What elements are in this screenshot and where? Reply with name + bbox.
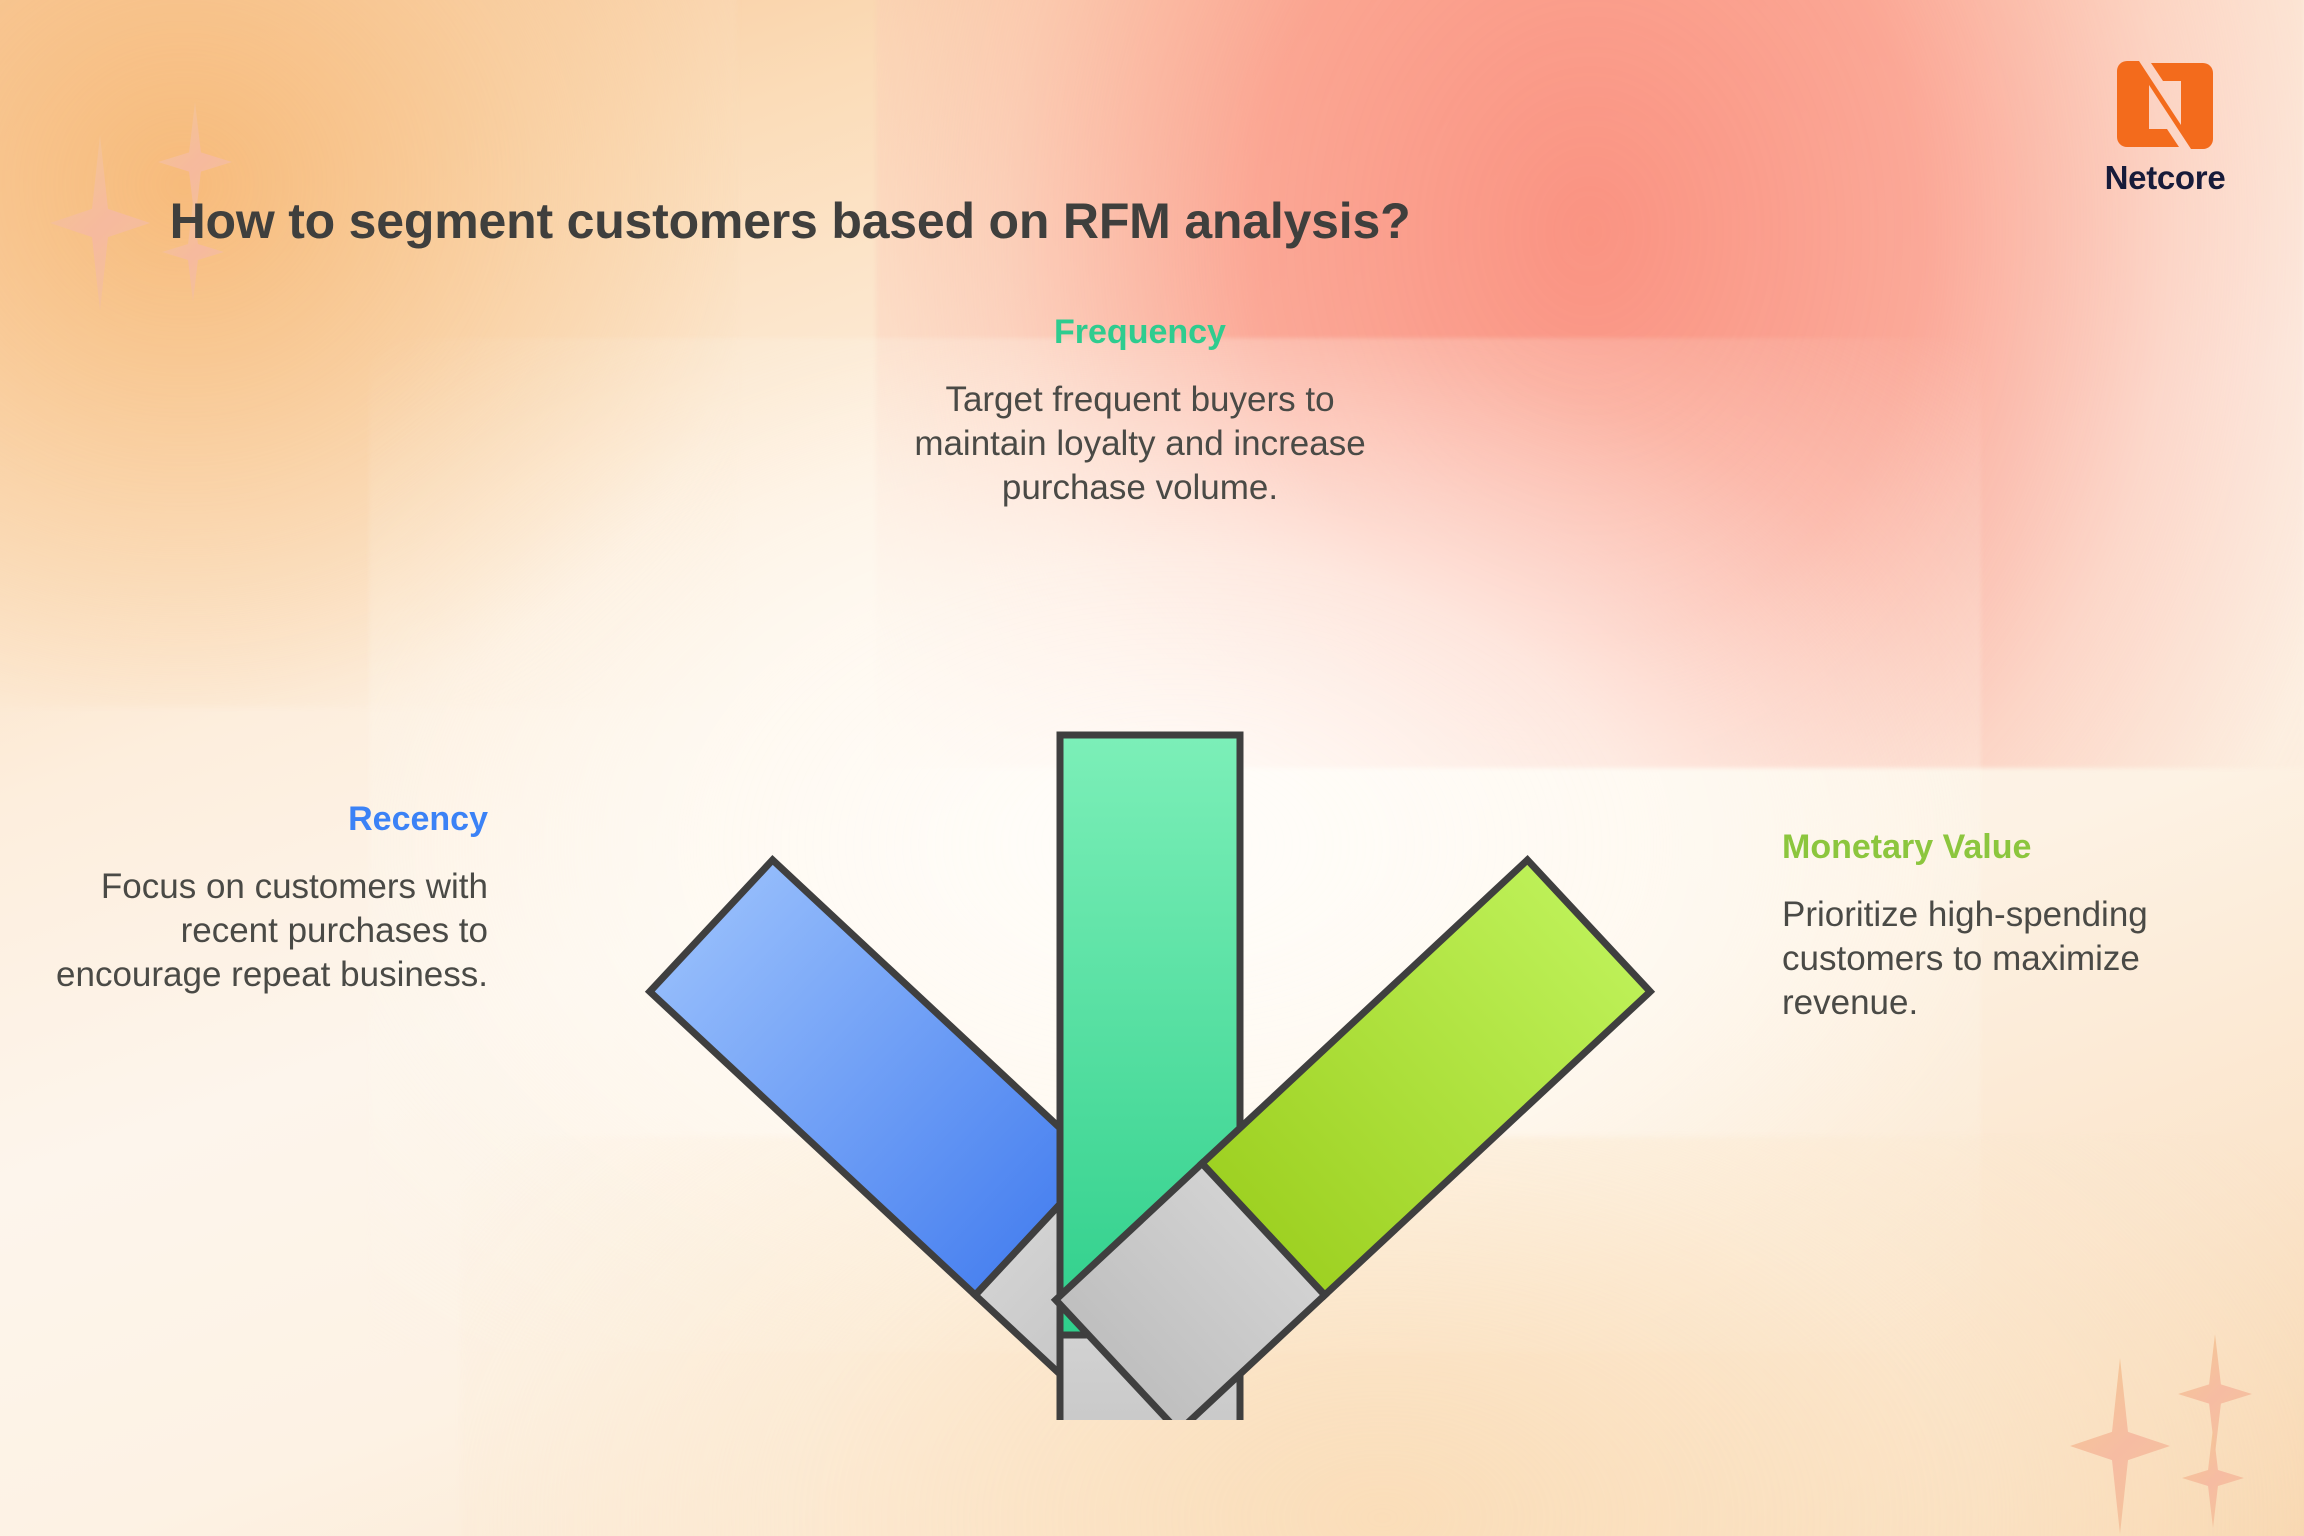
- sparkle-group-top-left: [40, 80, 280, 300]
- sparkle-four-point-icon: [2178, 1334, 2252, 1454]
- rfm-bar-diagram: [560, 690, 1740, 1420]
- infographic-canvas: How to segment customers based on RFM an…: [0, 0, 2304, 1536]
- pillar-recency: Recency Focus on customers with recent p…: [8, 800, 488, 997]
- pillar-frequency-heading: Frequency: [880, 313, 1400, 352]
- sparkle-four-point-icon: [2182, 1428, 2244, 1528]
- pillar-monetary-value: Monetary Value Prioritize high-spending …: [1782, 828, 2252, 1025]
- sparkle-group-bottom-right: [2060, 1340, 2300, 1536]
- sparkle-four-point-icon: [2070, 1358, 2170, 1534]
- pillar-recency-heading: Recency: [8, 800, 488, 839]
- pillar-recency-body: Focus on customers with recent purchases…: [8, 865, 488, 997]
- brand-logo[interactable]: Netcore: [2090, 55, 2240, 197]
- brand-wordmark: Netcore: [2090, 159, 2240, 197]
- pillar-monetary-value-heading: Monetary Value: [1782, 828, 2252, 867]
- pillar-frequency: Frequency Target frequent buyers to main…: [880, 313, 1400, 510]
- page-title: How to segment customers based on RFM an…: [0, 192, 1580, 250]
- rfm-bar-diagram-svg: [560, 690, 1740, 1420]
- pillar-monetary-value-body: Prioritize high-spending customers to ma…: [1782, 893, 2252, 1025]
- pillar-frequency-body: Target frequent buyers to maintain loyal…: [880, 378, 1400, 510]
- netcore-n-logo-icon: [2111, 55, 2219, 155]
